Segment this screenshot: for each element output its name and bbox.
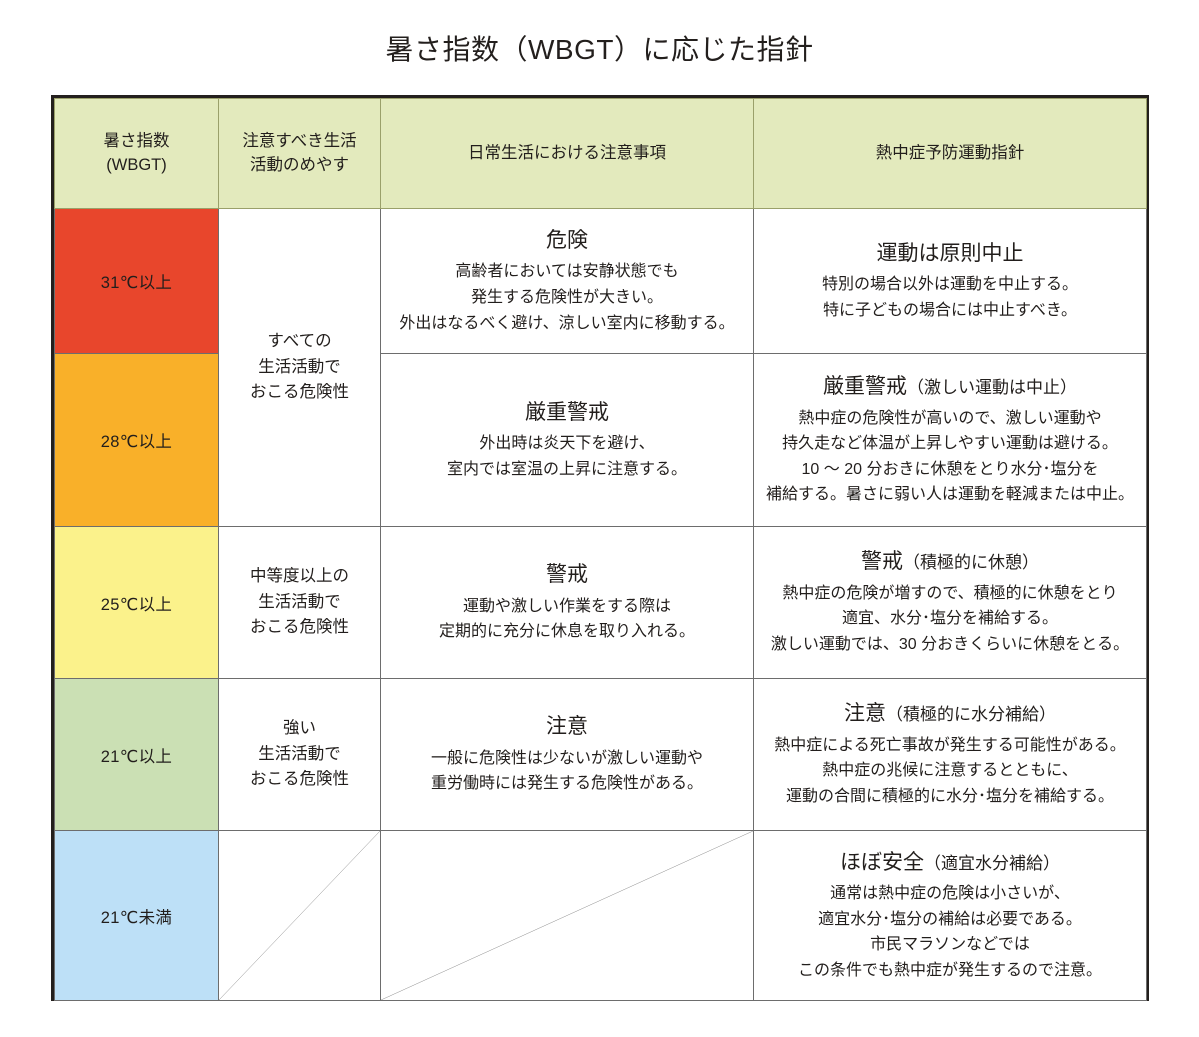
column-header-daily-life-precautions: 日常生活における注意事項 <box>381 99 754 209</box>
table: 暑さ指数 (WBGT) 注意すべき生活 活動のめやす 日常生活における注意事項 … <box>54 98 1147 1001</box>
page-root: 暑さ指数（WBGT）に応じた指針 暑さ指数 (WBGT) 注意すべき生活 活動の… <box>0 0 1199 1037</box>
daily-body-line: 一般に危険性は少ないが激しい運動や <box>387 746 747 772</box>
exercise-heading-paren: （激しい運動は中止） <box>907 378 1077 397</box>
daily-body-line: 重労働時には発生する危険性がある。 <box>387 771 747 797</box>
temp-cell-21-above: 21℃以上 <box>55 679 219 831</box>
daily-body: 高齢者においては安静状態でも 発生する危険性が大きい。 外出はなるべく避け、涼し… <box>387 259 747 336</box>
risk-line: おこる危険性 <box>225 615 374 641</box>
risk-cell-moderate-activities: 中等度以上の 生活活動で おこる危険性 <box>219 527 381 679</box>
exercise-body-line: 熱中症の危険が増すので、積極的に休憩をとり <box>760 581 1140 607</box>
exercise-body: 通常は熱中症の危険は小さいが、 適宜水分･塩分の補給は必要である。 市民マラソン… <box>760 881 1140 983</box>
exercise-body-line: 補給する。暑さに弱い人は運動を軽減または中止。 <box>760 482 1140 508</box>
daily-cell-warning: 警戒 運動や激しい作業をする際は 定期的に充分に休息を取り入れる。 <box>381 527 754 679</box>
exercise-body: 熱中症の危険が増すので、積極的に休憩をとり 適宜、水分･塩分を補給する。 激しい… <box>760 581 1140 658</box>
table-row: 21℃以上 強い 生活活動で おこる危険性 注意 一般に危険性は少ないが激しい運… <box>55 679 1147 831</box>
exercise-body-line: この条件でも熱中症が発生するので注意。 <box>760 958 1140 984</box>
daily-body: 一般に危険性は少ないが激しい運動や 重労働時には発生する危険性がある。 <box>387 746 747 797</box>
column-header-wbgt-line1: 暑さ指数 <box>61 130 212 154</box>
exercise-heading-main: 厳重警戒 <box>823 375 907 398</box>
daily-body: 運動や激しい作業をする際は 定期的に充分に休息を取り入れる。 <box>387 594 747 645</box>
exercise-body-line: 運動の合間に積極的に水分･塩分を補給する。 <box>760 784 1140 810</box>
daily-body-line: 定期的に充分に休息を取り入れる。 <box>387 619 747 645</box>
exercise-cell-severe-warning: 厳重警戒（激しい運動は中止） 熱中症の危険性が高いので、激しい運動や 持久走など… <box>754 354 1147 527</box>
daily-cell-severe-warning: 厳重警戒 外出時は炎天下を避け、 室内では室温の上昇に注意する。 <box>381 354 754 527</box>
temp-cell-28: 28℃以上 <box>55 354 219 527</box>
risk-line: 生活活動で <box>225 355 374 381</box>
daily-body-line: 運動や激しい作業をする際は <box>387 594 747 620</box>
temp-cell-25: 25℃以上 <box>55 527 219 679</box>
exercise-body: 熱中症の危険性が高いので、激しい運動や 持久走など体温が上昇しやすい運動は避ける… <box>760 406 1140 508</box>
exercise-heading: 厳重警戒（激しい運動は中止） <box>760 372 1140 402</box>
exercise-body-line: 10 〜 20 分おきに休憩をとり水分･塩分を <box>760 457 1140 483</box>
exercise-body-line: 持久走など体温が上昇しやすい運動は避ける。 <box>760 431 1140 457</box>
exercise-cell-caution: 注意（積極的に水分補給） 熱中症による死亡事故が発生する可能性がある。 熱中症の… <box>754 679 1147 831</box>
exercise-body-line: 熱中症の兆候に注意するとともに、 <box>760 758 1140 784</box>
exercise-heading: 運動は原則中止 <box>760 239 1140 269</box>
exercise-heading: ほぼ安全（適宜水分補給） <box>760 848 1140 878</box>
exercise-heading-paren: （積極的に水分補給） <box>886 705 1056 724</box>
wbgt-guidance-table: 暑さ指数 (WBGT) 注意すべき生活 活動のめやす 日常生活における注意事項 … <box>51 95 1149 1001</box>
exercise-body-line: 適宜水分･塩分の補給は必要である。 <box>760 907 1140 933</box>
risk-line: 中等度以上の <box>225 564 374 590</box>
daily-heading: 警戒 <box>387 560 747 590</box>
daily-cell-empty-diagonal <box>381 831 754 1001</box>
exercise-heading-paren: （適宜水分補給） <box>924 854 1060 873</box>
exercise-cell-almost-safe: ほぼ安全（適宜水分補給） 通常は熱中症の危険は小さいが、 適宜水分･塩分の補給は… <box>754 831 1147 1001</box>
column-header-wbgt-line2: (WBGT) <box>61 154 212 178</box>
risk-line: 生活活動で <box>225 590 374 616</box>
page-title: 暑さ指数（WBGT）に応じた指針 <box>0 0 1199 67</box>
risk-cell-merged-all-activities: すべての 生活活動で おこる危険性 <box>219 209 381 527</box>
risk-line: すべての <box>225 329 374 355</box>
table-row: 25℃以上 中等度以上の 生活活動で おこる危険性 警戒 運動や激しい作業をする… <box>55 527 1147 679</box>
exercise-body-line: 特別の場合以外は運動を中止する。 <box>760 272 1140 298</box>
risk-line: おこる危険性 <box>225 380 374 406</box>
exercise-heading-main: ほぼ安全 <box>840 851 924 874</box>
exercise-body-line: 特に子どもの場合には中止すべき。 <box>760 298 1140 324</box>
exercise-cell-stop: 運動は原則中止 特別の場合以外は運動を中止する。 特に子どもの場合には中止すべき… <box>754 209 1147 354</box>
table-row: 21℃未満 ほぼ安全（適宜水分補給） <box>55 831 1147 1001</box>
diagonal-strike-icon <box>381 831 753 1000</box>
column-header-exercise-guideline: 熱中症予防運動指針 <box>754 99 1147 209</box>
table-row: 31℃以上 すべての 生活活動で おこる危険性 危険 高齢者においては安静状態で… <box>55 209 1147 354</box>
daily-body-line: 発生する危険性が大きい。 <box>387 285 747 311</box>
daily-cell-danger: 危険 高齢者においては安静状態でも 発生する危険性が大きい。 外出はなるべく避け… <box>381 209 754 354</box>
daily-body-line: 室内では室温の上昇に注意する。 <box>387 457 747 483</box>
daily-cell-caution: 注意 一般に危険性は少ないが激しい運動や 重労働時には発生する危険性がある。 <box>381 679 754 831</box>
exercise-heading-paren: （積極的に休憩） <box>903 553 1039 572</box>
daily-body-line: 外出はなるべく避け、涼しい室内に移動する。 <box>387 311 747 337</box>
daily-heading: 厳重警戒 <box>387 398 747 428</box>
column-header-activity-guide-line1: 注意すべき生活 <box>225 130 374 154</box>
column-header-activity-guide-line2: 活動のめやす <box>225 154 374 178</box>
diagonal-strike-icon <box>219 831 380 1000</box>
exercise-heading: 注意（積極的に水分補給） <box>760 699 1140 729</box>
risk-line: 生活活動で <box>225 742 374 768</box>
daily-body: 外出時は炎天下を避け、 室内では室温の上昇に注意する。 <box>387 431 747 482</box>
exercise-body-line: 熱中症の危険性が高いので、激しい運動や <box>760 406 1140 432</box>
exercise-cell-warning: 警戒（積極的に休憩） 熱中症の危険が増すので、積極的に休憩をとり 適宜、水分･塩… <box>754 527 1147 679</box>
temp-cell-21-below: 21℃未満 <box>55 831 219 1001</box>
column-header-wbgt: 暑さ指数 (WBGT) <box>55 99 219 209</box>
column-header-activity-guide: 注意すべき生活 活動のめやす <box>219 99 381 209</box>
exercise-heading-main: 警戒 <box>861 550 903 573</box>
exercise-body-line: 熱中症による死亡事故が発生する可能性がある。 <box>760 733 1140 759</box>
exercise-body-line: 通常は熱中症の危険は小さいが、 <box>760 881 1140 907</box>
daily-heading: 危険 <box>387 226 747 256</box>
exercise-heading-main: 注意 <box>844 702 886 725</box>
exercise-body: 熱中症による死亡事故が発生する可能性がある。 熱中症の兆候に注意するとともに、 … <box>760 733 1140 810</box>
daily-heading: 注意 <box>387 712 747 742</box>
exercise-body-line: 市民マラソンなどでは <box>760 932 1140 958</box>
daily-body-line: 外出時は炎天下を避け、 <box>387 431 747 457</box>
daily-body-line: 高齢者においては安静状態でも <box>387 259 747 285</box>
risk-cell-empty-diagonal <box>219 831 381 1001</box>
risk-line: 強い <box>225 716 374 742</box>
exercise-body-line: 激しい運動では、30 分おきくらいに休憩をとる。 <box>760 632 1140 658</box>
risk-cell-strong-activities: 強い 生活活動で おこる危険性 <box>219 679 381 831</box>
exercise-body-line: 適宜、水分･塩分を補給する。 <box>760 606 1140 632</box>
exercise-heading: 警戒（積極的に休憩） <box>760 547 1140 577</box>
temp-cell-31: 31℃以上 <box>55 209 219 354</box>
risk-line: おこる危険性 <box>225 767 374 793</box>
exercise-body: 特別の場合以外は運動を中止する。 特に子どもの場合には中止すべき。 <box>760 272 1140 323</box>
table-header-row: 暑さ指数 (WBGT) 注意すべき生活 活動のめやす 日常生活における注意事項 … <box>55 99 1147 209</box>
table-row: 28℃以上 厳重警戒 外出時は炎天下を避け、 室内では室温の上昇に注意する。 厳… <box>55 354 1147 527</box>
